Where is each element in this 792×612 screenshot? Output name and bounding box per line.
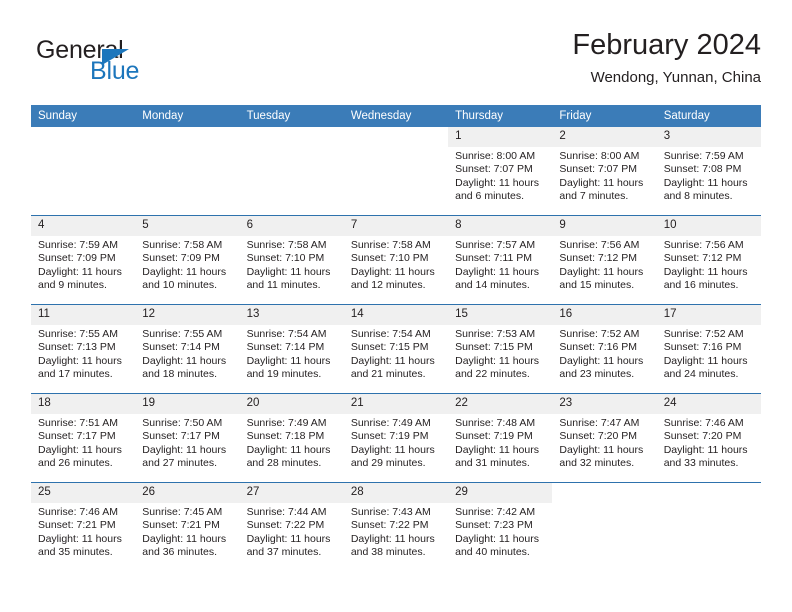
sunset-text: Sunset: 7:14 PM <box>142 341 234 354</box>
sunset-text: Sunset: 7:07 PM <box>455 163 547 176</box>
sunrise-text: Sunrise: 7:58 AM <box>247 239 339 252</box>
calendar-day-cell[interactable]: 28Sunrise: 7:43 AMSunset: 7:22 PMDayligh… <box>344 483 448 572</box>
sunrise-text: Sunrise: 7:42 AM <box>455 506 547 519</box>
day-number: 20 <box>240 394 344 414</box>
calendar-day-cell[interactable]: 6Sunrise: 7:58 AMSunset: 7:10 PMDaylight… <box>240 216 344 305</box>
calendar-day-cell[interactable]: 20Sunrise: 7:49 AMSunset: 7:18 PMDayligh… <box>240 394 344 483</box>
sunrise-text: Sunrise: 7:57 AM <box>455 239 547 252</box>
sunrise-text: Sunrise: 7:46 AM <box>664 417 756 430</box>
day-number: 24 <box>657 394 761 414</box>
daylight-text: Daylight: 11 hours and 35 minutes. <box>38 533 130 560</box>
day-number: 6 <box>240 216 344 236</box>
sunrise-text: Sunrise: 7:53 AM <box>455 328 547 341</box>
weekday-header-monday: Monday <box>135 105 239 127</box>
title-block: February 2024 Wendong, Yunnan, China <box>572 28 761 87</box>
calendar-day-cell[interactable]: 14Sunrise: 7:54 AMSunset: 7:15 PMDayligh… <box>344 305 448 394</box>
sunset-text: Sunset: 7:19 PM <box>351 430 443 443</box>
day-number: 13 <box>240 305 344 325</box>
day-sun-info: Sunrise: 7:52 AMSunset: 7:16 PMDaylight:… <box>657 325 761 381</box>
sunset-text: Sunset: 7:16 PM <box>664 341 756 354</box>
daylight-text: Daylight: 11 hours and 23 minutes. <box>559 355 651 382</box>
calendar-day-cell[interactable]: 16Sunrise: 7:52 AMSunset: 7:16 PMDayligh… <box>552 305 656 394</box>
calendar-day-cell-empty <box>240 127 344 216</box>
day-sun-info: Sunrise: 8:00 AMSunset: 7:07 PMDaylight:… <box>448 147 552 203</box>
calendar-day-cell[interactable]: 26Sunrise: 7:45 AMSunset: 7:21 PMDayligh… <box>135 483 239 572</box>
calendar-day-cell[interactable]: 1Sunrise: 8:00 AMSunset: 7:07 PMDaylight… <box>448 127 552 216</box>
day-sun-info: Sunrise: 8:00 AMSunset: 7:07 PMDaylight:… <box>552 147 656 203</box>
weekday-header-wednesday: Wednesday <box>344 105 448 127</box>
sunrise-text: Sunrise: 7:56 AM <box>664 239 756 252</box>
sunset-text: Sunset: 7:17 PM <box>142 430 234 443</box>
logo-text-blue: Blue <box>90 57 139 85</box>
day-number: 5 <box>135 216 239 236</box>
calendar-day-cell-empty <box>344 127 448 216</box>
sunset-text: Sunset: 7:10 PM <box>247 252 339 265</box>
sunset-text: Sunset: 7:14 PM <box>247 341 339 354</box>
sunset-text: Sunset: 7:09 PM <box>38 252 130 265</box>
sunrise-text: Sunrise: 7:55 AM <box>38 328 130 341</box>
calendar-day-cell[interactable]: 12Sunrise: 7:55 AMSunset: 7:14 PMDayligh… <box>135 305 239 394</box>
day-sun-info: Sunrise: 7:48 AMSunset: 7:19 PMDaylight:… <box>448 414 552 470</box>
daylight-text: Daylight: 11 hours and 15 minutes. <box>559 266 651 293</box>
day-number: 8 <box>448 216 552 236</box>
day-sun-info: Sunrise: 7:46 AMSunset: 7:21 PMDaylight:… <box>31 503 135 559</box>
day-number: 27 <box>240 483 344 503</box>
sunset-text: Sunset: 7:15 PM <box>455 341 547 354</box>
calendar-day-cell[interactable]: 23Sunrise: 7:47 AMSunset: 7:20 PMDayligh… <box>552 394 656 483</box>
daylight-text: Daylight: 11 hours and 19 minutes. <box>247 355 339 382</box>
day-number: 19 <box>135 394 239 414</box>
weekday-header-friday: Friday <box>552 105 656 127</box>
day-number: 25 <box>31 483 135 503</box>
sunset-text: Sunset: 7:08 PM <box>664 163 756 176</box>
day-number: 15 <box>448 305 552 325</box>
day-number <box>552 483 656 503</box>
day-number: 23 <box>552 394 656 414</box>
sunset-text: Sunset: 7:09 PM <box>142 252 234 265</box>
daylight-text: Daylight: 11 hours and 27 minutes. <box>142 444 234 471</box>
daylight-text: Daylight: 11 hours and 14 minutes. <box>455 266 547 293</box>
sunset-text: Sunset: 7:15 PM <box>351 341 443 354</box>
day-sun-info: Sunrise: 7:46 AMSunset: 7:20 PMDaylight:… <box>657 414 761 470</box>
day-number: 4 <box>31 216 135 236</box>
day-sun-info: Sunrise: 7:57 AMSunset: 7:11 PMDaylight:… <box>448 236 552 292</box>
sunrise-text: Sunrise: 8:00 AM <box>455 150 547 163</box>
sunset-text: Sunset: 7:21 PM <box>142 519 234 532</box>
sunrise-text: Sunrise: 7:55 AM <box>142 328 234 341</box>
sunrise-text: Sunrise: 7:58 AM <box>351 239 443 252</box>
day-sun-info: Sunrise: 7:59 AMSunset: 7:08 PMDaylight:… <box>657 147 761 203</box>
sunrise-text: Sunrise: 7:56 AM <box>559 239 651 252</box>
day-number: 29 <box>448 483 552 503</box>
sunrise-sunset-calendar: Sunday Monday Tuesday Wednesday Thursday… <box>31 105 761 571</box>
day-sun-info: Sunrise: 7:56 AMSunset: 7:12 PMDaylight:… <box>657 236 761 292</box>
day-sun-info: Sunrise: 7:55 AMSunset: 7:13 PMDaylight:… <box>31 325 135 381</box>
calendar-day-cell[interactable]: 8Sunrise: 7:57 AMSunset: 7:11 PMDaylight… <box>448 216 552 305</box>
sunrise-text: Sunrise: 7:43 AM <box>351 506 443 519</box>
daylight-text: Daylight: 11 hours and 6 minutes. <box>455 177 547 204</box>
daylight-text: Daylight: 11 hours and 17 minutes. <box>38 355 130 382</box>
sunrise-text: Sunrise: 7:44 AM <box>247 506 339 519</box>
day-sun-info: Sunrise: 7:45 AMSunset: 7:21 PMDaylight:… <box>135 503 239 559</box>
day-number: 12 <box>135 305 239 325</box>
daylight-text: Daylight: 11 hours and 29 minutes. <box>351 444 443 471</box>
sunrise-text: Sunrise: 7:54 AM <box>247 328 339 341</box>
daylight-text: Daylight: 11 hours and 7 minutes. <box>559 177 651 204</box>
day-number: 16 <box>552 305 656 325</box>
calendar-day-cell[interactable]: 25Sunrise: 7:46 AMSunset: 7:21 PMDayligh… <box>31 483 135 572</box>
calendar-day-cell[interactable]: 10Sunrise: 7:56 AMSunset: 7:12 PMDayligh… <box>657 216 761 305</box>
daylight-text: Daylight: 11 hours and 18 minutes. <box>142 355 234 382</box>
weekday-header-thursday: Thursday <box>448 105 552 127</box>
day-sun-info: Sunrise: 7:53 AMSunset: 7:15 PMDaylight:… <box>448 325 552 381</box>
sunset-text: Sunset: 7:23 PM <box>455 519 547 532</box>
calendar-day-cell-empty <box>31 127 135 216</box>
calendar-day-cell-empty <box>135 127 239 216</box>
sunrise-text: Sunrise: 7:52 AM <box>664 328 756 341</box>
calendar-week-row: 4Sunrise: 7:59 AMSunset: 7:09 PMDaylight… <box>31 216 761 305</box>
sunset-text: Sunset: 7:11 PM <box>455 252 547 265</box>
day-sun-info: Sunrise: 7:43 AMSunset: 7:22 PMDaylight:… <box>344 503 448 559</box>
calendar-day-cell[interactable]: 7Sunrise: 7:58 AMSunset: 7:10 PMDaylight… <box>344 216 448 305</box>
sunrise-text: Sunrise: 7:59 AM <box>664 150 756 163</box>
general-blue-logo[interactable]: General Blue <box>31 36 271 92</box>
daylight-text: Daylight: 11 hours and 31 minutes. <box>455 444 547 471</box>
sunrise-text: Sunrise: 7:51 AM <box>38 417 130 430</box>
sunrise-text: Sunrise: 7:59 AM <box>38 239 130 252</box>
daylight-text: Daylight: 11 hours and 9 minutes. <box>38 266 130 293</box>
day-number <box>31 127 135 147</box>
sunset-text: Sunset: 7:07 PM <box>559 163 651 176</box>
day-sun-info: Sunrise: 7:47 AMSunset: 7:20 PMDaylight:… <box>552 414 656 470</box>
day-sun-info: Sunrise: 7:55 AMSunset: 7:14 PMDaylight:… <box>135 325 239 381</box>
calendar-day-cell[interactable]: 13Sunrise: 7:54 AMSunset: 7:14 PMDayligh… <box>240 305 344 394</box>
sunrise-text: Sunrise: 7:52 AM <box>559 328 651 341</box>
calendar-day-cell[interactable]: 9Sunrise: 7:56 AMSunset: 7:12 PMDaylight… <box>552 216 656 305</box>
daylight-text: Daylight: 11 hours and 36 minutes. <box>142 533 234 560</box>
day-sun-info: Sunrise: 7:54 AMSunset: 7:15 PMDaylight:… <box>344 325 448 381</box>
day-number: 17 <box>657 305 761 325</box>
day-number: 22 <box>448 394 552 414</box>
sunset-text: Sunset: 7:16 PM <box>559 341 651 354</box>
calendar-week-row: 18Sunrise: 7:51 AMSunset: 7:17 PMDayligh… <box>31 394 761 483</box>
day-number: 18 <box>31 394 135 414</box>
sunset-text: Sunset: 7:20 PM <box>664 430 756 443</box>
day-sun-info: Sunrise: 7:58 AMSunset: 7:10 PMDaylight:… <box>240 236 344 292</box>
calendar-day-cell[interactable]: 4Sunrise: 7:59 AMSunset: 7:09 PMDaylight… <box>31 216 135 305</box>
day-number <box>240 127 344 147</box>
sunrise-text: Sunrise: 7:49 AM <box>351 417 443 430</box>
sunset-text: Sunset: 7:10 PM <box>351 252 443 265</box>
daylight-text: Daylight: 11 hours and 8 minutes. <box>664 177 756 204</box>
calendar-day-cell[interactable]: 29Sunrise: 7:42 AMSunset: 7:23 PMDayligh… <box>448 483 552 572</box>
sunset-text: Sunset: 7:17 PM <box>38 430 130 443</box>
calendar-day-cell[interactable]: 24Sunrise: 7:46 AMSunset: 7:20 PMDayligh… <box>657 394 761 483</box>
daylight-text: Daylight: 11 hours and 12 minutes. <box>351 266 443 293</box>
day-number <box>135 127 239 147</box>
weekday-header-row: Sunday Monday Tuesday Wednesday Thursday… <box>31 105 761 127</box>
calendar-week-row: 1Sunrise: 8:00 AMSunset: 7:07 PMDaylight… <box>31 127 761 216</box>
daylight-text: Daylight: 11 hours and 37 minutes. <box>247 533 339 560</box>
location-subtitle: Wendong, Yunnan, China <box>572 69 761 87</box>
day-sun-info: Sunrise: 7:42 AMSunset: 7:23 PMDaylight:… <box>448 503 552 559</box>
day-sun-info: Sunrise: 7:54 AMSunset: 7:14 PMDaylight:… <box>240 325 344 381</box>
page-header: General Blue February 2024 Wendong, Yunn… <box>31 28 761 100</box>
daylight-text: Daylight: 11 hours and 16 minutes. <box>664 266 756 293</box>
daylight-text: Daylight: 11 hours and 26 minutes. <box>38 444 130 471</box>
weekday-header-sunday: Sunday <box>31 105 135 127</box>
daylight-text: Daylight: 11 hours and 22 minutes. <box>455 355 547 382</box>
day-number: 21 <box>344 394 448 414</box>
calendar-day-cell-empty <box>552 483 656 572</box>
day-number: 11 <box>31 305 135 325</box>
calendar-week-row: 11Sunrise: 7:55 AMSunset: 7:13 PMDayligh… <box>31 305 761 394</box>
weekday-header-saturday: Saturday <box>657 105 761 127</box>
daylight-text: Daylight: 11 hours and 32 minutes. <box>559 444 651 471</box>
calendar-day-cell[interactable]: 11Sunrise: 7:55 AMSunset: 7:13 PMDayligh… <box>31 305 135 394</box>
daylight-text: Daylight: 11 hours and 24 minutes. <box>664 355 756 382</box>
calendar-day-cell[interactable]: 17Sunrise: 7:52 AMSunset: 7:16 PMDayligh… <box>657 305 761 394</box>
day-number: 9 <box>552 216 656 236</box>
day-number: 3 <box>657 127 761 147</box>
daylight-text: Daylight: 11 hours and 11 minutes. <box>247 266 339 293</box>
calendar-day-cell[interactable]: 22Sunrise: 7:48 AMSunset: 7:19 PMDayligh… <box>448 394 552 483</box>
calendar-day-cell[interactable]: 5Sunrise: 7:58 AMSunset: 7:09 PMDaylight… <box>135 216 239 305</box>
day-sun-info: Sunrise: 7:44 AMSunset: 7:22 PMDaylight:… <box>240 503 344 559</box>
sunset-text: Sunset: 7:12 PM <box>559 252 651 265</box>
sunrise-text: Sunrise: 7:46 AM <box>38 506 130 519</box>
day-number: 2 <box>552 127 656 147</box>
daylight-text: Daylight: 11 hours and 10 minutes. <box>142 266 234 293</box>
day-number: 26 <box>135 483 239 503</box>
day-number: 14 <box>344 305 448 325</box>
calendar-day-cell-empty <box>657 483 761 572</box>
calendar-page: General Blue February 2024 Wendong, Yunn… <box>0 0 792 612</box>
sunset-text: Sunset: 7:21 PM <box>38 519 130 532</box>
sunset-text: Sunset: 7:22 PM <box>247 519 339 532</box>
day-sun-info: Sunrise: 7:49 AMSunset: 7:19 PMDaylight:… <box>344 414 448 470</box>
day-sun-info: Sunrise: 7:56 AMSunset: 7:12 PMDaylight:… <box>552 236 656 292</box>
day-sun-info: Sunrise: 7:49 AMSunset: 7:18 PMDaylight:… <box>240 414 344 470</box>
day-sun-info: Sunrise: 7:58 AMSunset: 7:09 PMDaylight:… <box>135 236 239 292</box>
sunrise-text: Sunrise: 7:47 AM <box>559 417 651 430</box>
day-number: 10 <box>657 216 761 236</box>
sunset-text: Sunset: 7:13 PM <box>38 341 130 354</box>
sunrise-text: Sunrise: 7:48 AM <box>455 417 547 430</box>
day-number: 7 <box>344 216 448 236</box>
sunrise-text: Sunrise: 7:49 AM <box>247 417 339 430</box>
sunset-text: Sunset: 7:19 PM <box>455 430 547 443</box>
sunrise-text: Sunrise: 8:00 AM <box>559 150 651 163</box>
daylight-text: Daylight: 11 hours and 33 minutes. <box>664 444 756 471</box>
calendar-day-cell[interactable]: 18Sunrise: 7:51 AMSunset: 7:17 PMDayligh… <box>31 394 135 483</box>
sunrise-text: Sunrise: 7:45 AM <box>142 506 234 519</box>
sunset-text: Sunset: 7:18 PM <box>247 430 339 443</box>
sunset-text: Sunset: 7:12 PM <box>664 252 756 265</box>
day-sun-info: Sunrise: 7:59 AMSunset: 7:09 PMDaylight:… <box>31 236 135 292</box>
daylight-text: Daylight: 11 hours and 28 minutes. <box>247 444 339 471</box>
weekday-header-tuesday: Tuesday <box>240 105 344 127</box>
sunrise-text: Sunrise: 7:58 AM <box>142 239 234 252</box>
day-number <box>657 483 761 503</box>
day-number: 28 <box>344 483 448 503</box>
calendar-day-cell[interactable]: 2Sunrise: 8:00 AMSunset: 7:07 PMDaylight… <box>552 127 656 216</box>
sunset-text: Sunset: 7:20 PM <box>559 430 651 443</box>
sunrise-text: Sunrise: 7:50 AM <box>142 417 234 430</box>
sunrise-text: Sunrise: 7:54 AM <box>351 328 443 341</box>
daylight-text: Daylight: 11 hours and 40 minutes. <box>455 533 547 560</box>
calendar-day-cell[interactable]: 27Sunrise: 7:44 AMSunset: 7:22 PMDayligh… <box>240 483 344 572</box>
calendar-body: 1Sunrise: 8:00 AMSunset: 7:07 PMDaylight… <box>31 127 761 571</box>
day-sun-info: Sunrise: 7:50 AMSunset: 7:17 PMDaylight:… <box>135 414 239 470</box>
calendar-day-cell[interactable]: 3Sunrise: 7:59 AMSunset: 7:08 PMDaylight… <box>657 127 761 216</box>
sunset-text: Sunset: 7:22 PM <box>351 519 443 532</box>
calendar-day-cell[interactable]: 19Sunrise: 7:50 AMSunset: 7:17 PMDayligh… <box>135 394 239 483</box>
day-sun-info: Sunrise: 7:58 AMSunset: 7:10 PMDaylight:… <box>344 236 448 292</box>
calendar-day-cell[interactable]: 15Sunrise: 7:53 AMSunset: 7:15 PMDayligh… <box>448 305 552 394</box>
daylight-text: Daylight: 11 hours and 38 minutes. <box>351 533 443 560</box>
day-number: 1 <box>448 127 552 147</box>
day-sun-info: Sunrise: 7:51 AMSunset: 7:17 PMDaylight:… <box>31 414 135 470</box>
page-title: February 2024 <box>572 28 761 62</box>
calendar-week-row: 25Sunrise: 7:46 AMSunset: 7:21 PMDayligh… <box>31 483 761 572</box>
daylight-text: Daylight: 11 hours and 21 minutes. <box>351 355 443 382</box>
day-sun-info: Sunrise: 7:52 AMSunset: 7:16 PMDaylight:… <box>552 325 656 381</box>
day-number <box>344 127 448 147</box>
calendar-day-cell[interactable]: 21Sunrise: 7:49 AMSunset: 7:19 PMDayligh… <box>344 394 448 483</box>
